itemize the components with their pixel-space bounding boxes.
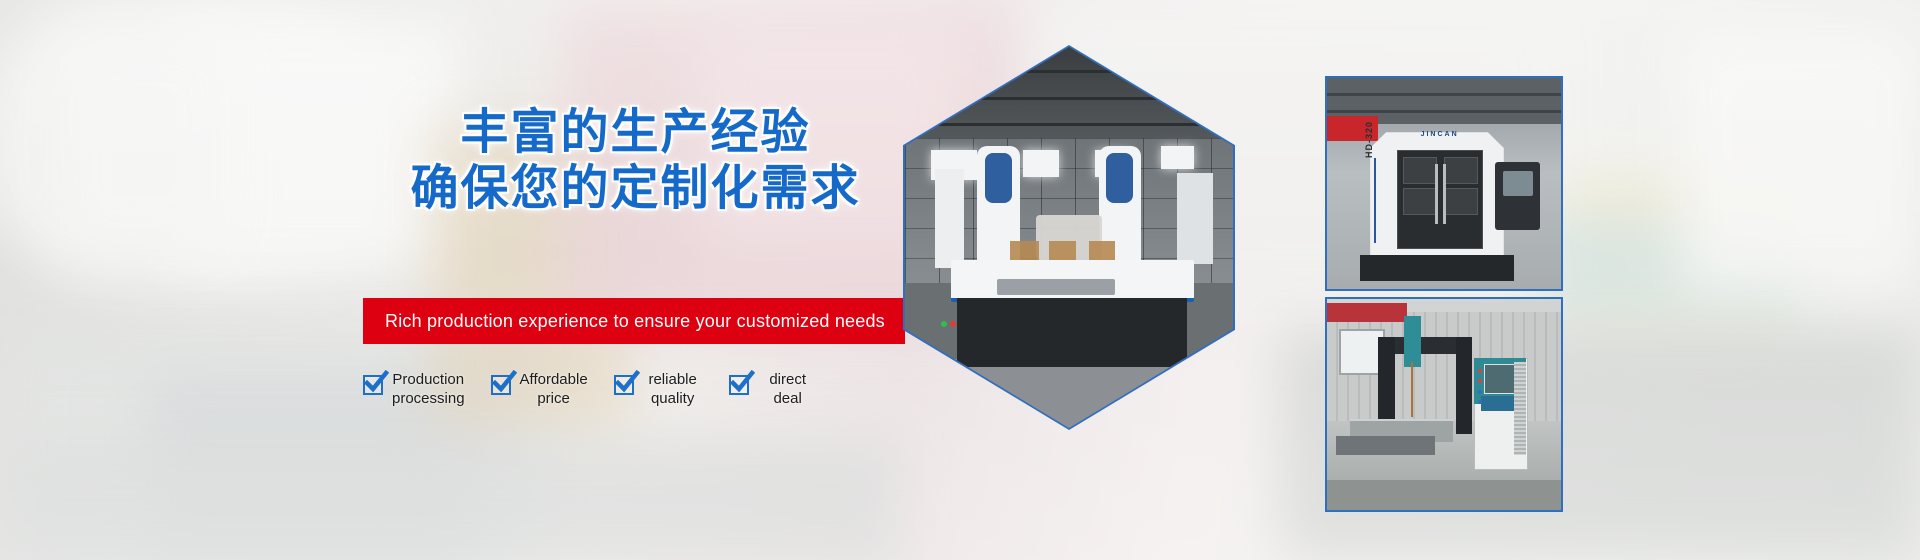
- feature-list: Production processing Affordable price r…: [363, 370, 923, 425]
- machine-model-label: HD-320: [1364, 121, 1374, 158]
- checkbox-checked-icon: [614, 375, 634, 395]
- checkbox-checked-icon: [491, 375, 511, 395]
- checkbox-checked-icon: [363, 375, 383, 395]
- subtitle-text: Rich production experience to ensure you…: [363, 311, 885, 332]
- machine-brand-label: JINCAN: [1421, 131, 1459, 138]
- headline-line-2: 确保您的定制化需求: [363, 160, 908, 216]
- feature-item[interactable]: Production processing: [363, 370, 465, 408]
- feature-item[interactable]: reliable quality: [614, 370, 703, 408]
- checkbox-checked-icon: [729, 375, 749, 395]
- feature-item[interactable]: direct deal: [729, 370, 818, 408]
- headline: 丰富的生产经验 确保您的定制化需求: [363, 104, 908, 216]
- feature-label: reliable quality: [643, 370, 703, 408]
- headline-line-1: 丰富的生产经验: [363, 104, 908, 160]
- subtitle-bar: Rich production experience to ensure you…: [363, 298, 905, 344]
- thumbnail-machining-center[interactable]: HD-320 JINCAN: [1325, 76, 1563, 291]
- thumbnail-boring-machine[interactable]: [1325, 297, 1563, 512]
- feature-item[interactable]: Affordable price: [491, 370, 588, 408]
- feature-label: direct deal: [758, 370, 818, 408]
- feature-label: Affordable price: [520, 370, 588, 408]
- hexagon-photo[interactable]: [903, 45, 1235, 430]
- promo-banner: 丰富的生产经验 确保您的定制化需求 Rich production experi…: [0, 0, 1920, 560]
- feature-label: Production processing: [392, 370, 465, 408]
